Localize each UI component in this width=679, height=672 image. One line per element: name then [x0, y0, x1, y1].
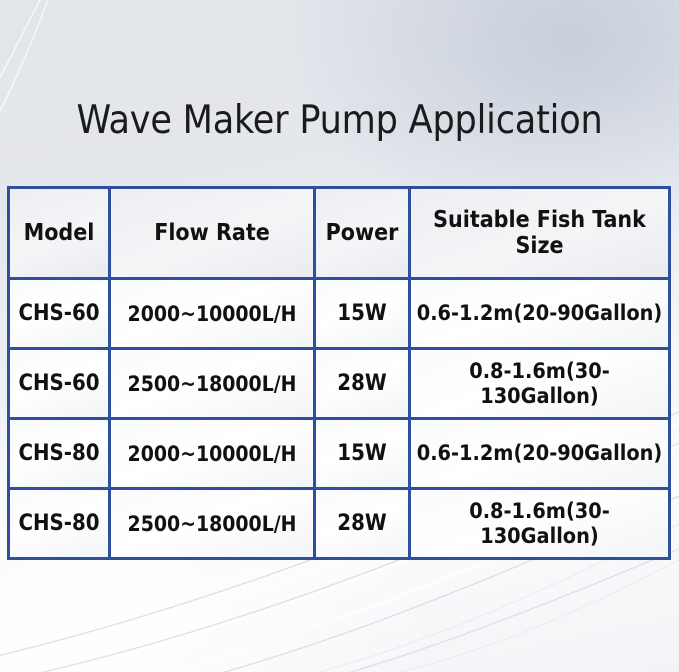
cell-tank-size: 0.6-1.2m(20-90Gallon) — [410, 279, 670, 349]
cell-flow-rate: 2500~18000L/H — [110, 349, 315, 419]
cell-tank-size: 0.8-1.6m(30-130Gallon) — [410, 489, 670, 559]
cell-model: CHS-60 — [9, 279, 110, 349]
table-row: CHS-80 2500~18000L/H 28W 0.8-1.6m(30-130… — [9, 489, 670, 559]
table-row: CHS-60 2500~18000L/H 28W 0.8-1.6m(30-130… — [9, 349, 670, 419]
table-header-row: Model Flow Rate Power Suitable Fish Tank… — [9, 188, 670, 279]
column-header-tank-size: Suitable Fish Tank Size — [410, 188, 670, 279]
column-header-power: Power — [315, 188, 410, 279]
product-spec-page: Wave Maker Pump Application Model Flow R… — [0, 0, 679, 672]
spec-table-body: CHS-60 2000~10000L/H 15W 0.6-1.2m(20-90G… — [9, 279, 670, 559]
spec-table-container: Model Flow Rate Power Suitable Fish Tank… — [7, 186, 671, 545]
cell-flow-rate: 2000~10000L/H — [110, 279, 315, 349]
cell-model: CHS-60 — [9, 349, 110, 419]
cell-power: 15W — [315, 279, 410, 349]
cell-power: 15W — [315, 419, 410, 489]
cell-model: CHS-80 — [9, 419, 110, 489]
table-row: CHS-60 2000~10000L/H 15W 0.6-1.2m(20-90G… — [9, 279, 670, 349]
cell-flow-rate: 2500~18000L/H — [110, 489, 315, 559]
cell-tank-size: 0.6-1.2m(20-90Gallon) — [410, 419, 670, 489]
column-header-flow-rate: Flow Rate — [110, 188, 315, 279]
cell-flow-rate: 2000~10000L/H — [110, 419, 315, 489]
spec-table: Model Flow Rate Power Suitable Fish Tank… — [7, 186, 671, 560]
cell-power: 28W — [315, 349, 410, 419]
spec-table-header: Model Flow Rate Power Suitable Fish Tank… — [9, 188, 670, 279]
cell-tank-size: 0.8-1.6m(30-130Gallon) — [410, 349, 670, 419]
column-header-model: Model — [9, 188, 110, 279]
page-title: Wave Maker Pump Application — [0, 98, 679, 144]
cell-power: 28W — [315, 489, 410, 559]
cell-model: CHS-80 — [9, 489, 110, 559]
table-row: CHS-80 2000~10000L/H 15W 0.6-1.2m(20-90G… — [9, 419, 670, 489]
